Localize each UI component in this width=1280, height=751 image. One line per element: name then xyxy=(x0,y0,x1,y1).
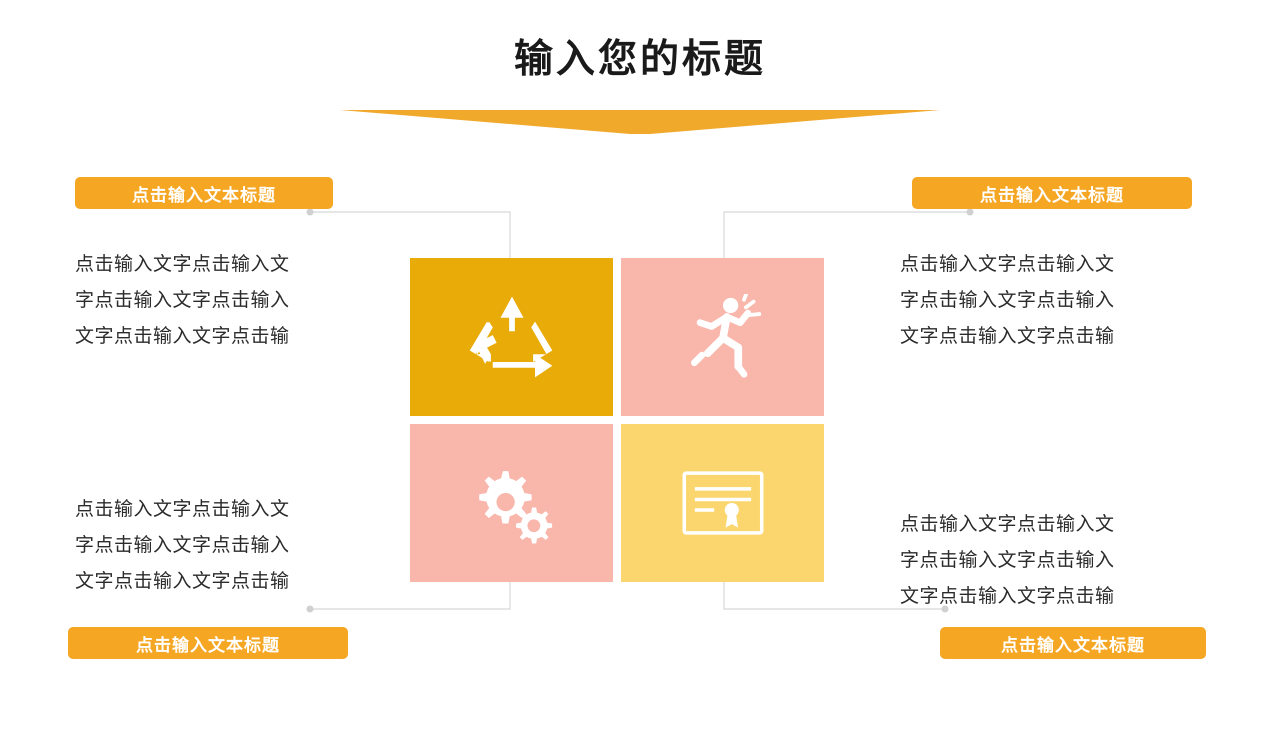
tile-recycle[interactable] xyxy=(410,258,613,416)
certificate-icon xyxy=(679,467,767,539)
runner-icon xyxy=(683,294,763,380)
recycle-icon xyxy=(464,289,560,385)
panel-label-bottom-left[interactable]: 点击输入文本标题 xyxy=(68,627,348,659)
panel-text-top-left: 点击输入文字点击输入文 字点击输入文字点击输入 文字点击输入文字点击输 xyxy=(75,247,375,355)
panel-text-bottom-right: 点击输入文字点击输入文 字点击输入文字点击输入 文字点击输入文字点击输 xyxy=(900,507,1200,615)
panel-text-bottom-left: 点击输入文字点击输入文 字点击输入文字点击输入 文字点击输入文字点击输 xyxy=(75,492,375,600)
page-title: 输入您的标题 xyxy=(0,28,1280,84)
center-image-grid: PPT家园 xyxy=(410,258,824,578)
panel-text-top-right: 点击输入文字点击输入文 字点击输入文字点击输入 文字点击输入文字点击输 xyxy=(900,247,1200,355)
panel-label-top-left[interactable]: 点击输入文本标题 xyxy=(75,177,333,209)
tile-gears[interactable] xyxy=(410,424,613,582)
slide-canvas: 输入您的标题 xyxy=(0,0,1280,720)
tile-runner[interactable] xyxy=(621,258,824,416)
tile-certificate[interactable] xyxy=(621,424,824,582)
gears-icon xyxy=(466,462,558,544)
panel-label-bottom-right[interactable]: 点击输入文本标题 xyxy=(940,627,1206,659)
title-underline-ribbon xyxy=(340,110,940,134)
panel-label-top-right[interactable]: 点击输入文本标题 xyxy=(912,177,1192,209)
